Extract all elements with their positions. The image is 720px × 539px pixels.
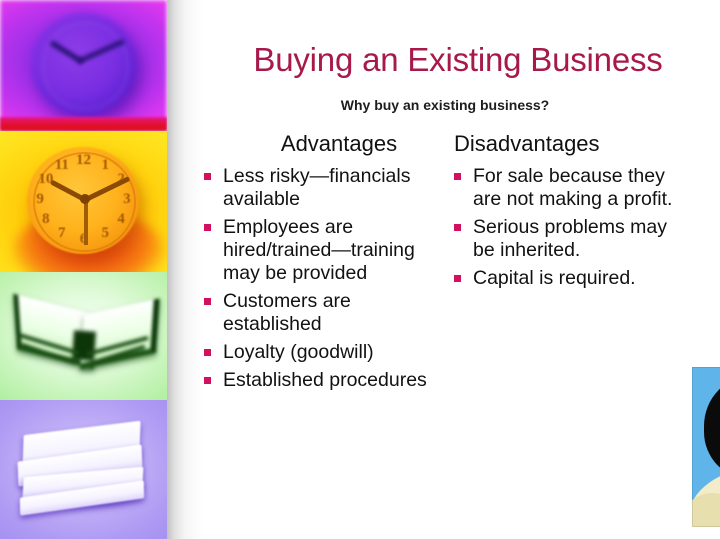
advantage-item: Loyalty (goodwill) xyxy=(198,341,443,364)
orange-yellow-clock-image: 121234567891011 xyxy=(0,131,167,272)
disadvantage-item: Serious problems may be inherited. xyxy=(448,216,692,262)
disadvantage-item: Capital is required. xyxy=(448,267,692,290)
woman-with-money-over-eyes-clipart xyxy=(692,367,720,527)
clock-numeral-12: 12 xyxy=(76,152,92,169)
disadvantage-item: For sale because they are not making a p… xyxy=(448,165,692,211)
clock-numeral-7: 7 xyxy=(54,225,70,242)
blurred-violet-clock-image xyxy=(0,0,167,131)
violet-clock-tick-ring xyxy=(42,22,130,110)
clock-numeral-3: 3 xyxy=(119,191,135,208)
disadvantages-heading: Disadvantages xyxy=(454,131,689,157)
orange-clock-second-hand xyxy=(84,199,88,246)
violet-panel-red-band xyxy=(0,117,167,131)
clock-numeral-8: 8 xyxy=(38,211,54,228)
purple-paper-stack-image xyxy=(0,400,167,539)
page-title: Buying an Existing Business xyxy=(210,42,706,78)
clipart-shoulder-shading xyxy=(692,493,720,527)
clock-numeral-11: 11 xyxy=(54,157,70,174)
advantage-item: Employees are hired/trained—training may… xyxy=(198,216,443,285)
slide-content: Buying an Existing Business Why buy an e… xyxy=(196,0,720,539)
clock-numeral-1: 1 xyxy=(97,157,113,174)
sidebar-image-strip: 121234567891011 xyxy=(0,0,167,539)
clock-numeral-9: 9 xyxy=(32,191,48,208)
green-book-blur-layer xyxy=(0,272,167,400)
green-book-shape xyxy=(12,298,156,377)
presentation-slide: 121234567891011 xyxy=(0,0,720,539)
purple-stack-sheets xyxy=(0,400,167,539)
slide-subtitle: Why buy an existing business? xyxy=(210,96,680,114)
advantage-item: Established procedures xyxy=(198,369,443,392)
green-open-book-image xyxy=(0,272,167,400)
disadvantages-list: For sale because they are not making a p… xyxy=(448,165,692,295)
green-book-spine xyxy=(72,330,95,360)
advantages-list: Less risky—financials availableEmployees… xyxy=(198,165,443,397)
clock-numeral-4: 4 xyxy=(113,211,129,228)
advantage-item: Customers are established xyxy=(198,290,443,336)
clock-numeral-5: 5 xyxy=(97,225,113,242)
advantage-item: Less risky—financials available xyxy=(198,165,443,211)
advantages-heading: Advantages xyxy=(234,131,444,157)
